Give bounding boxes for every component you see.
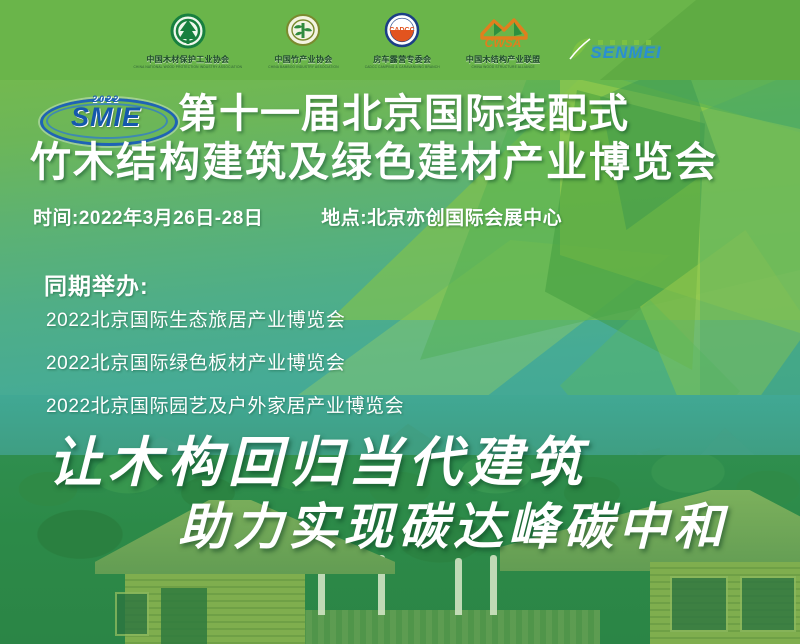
logo-senmei[interactable]: SENMEI [566, 11, 666, 69]
logo-label-cn: 中国竹产业协会 [274, 54, 332, 65]
logo-cwsa[interactable]: CWSA 中国木结构产业联盟 CHINA WOOD STRUCTURE ALLI… [466, 11, 541, 69]
cabin-window [670, 576, 728, 632]
page-title-line2: 竹木结构建筑及绿色建材产业博览会 [30, 140, 790, 184]
cabin-window [115, 592, 149, 636]
logo-label-en: CADCC CAMPING & CARAVANNING BRANCH [365, 65, 440, 69]
slogan-line1: 让木构回归当代建筑 [48, 418, 588, 497]
cadcc-badge-icon: CADCC [380, 12, 424, 52]
cabin-window [740, 576, 796, 632]
house-cwsa-icon: CWSA [474, 12, 532, 52]
slogan-line2: 助力实现碳达峰碳中和 [178, 487, 728, 559]
cabin-door [161, 588, 207, 644]
logo-label-en: CHINA BAMBOO INDUSTRY ASSOCIATION [268, 65, 339, 69]
bamboo-medallion-icon [281, 12, 325, 52]
event-venue: 地点:北京亦创国际会展中心 [321, 203, 562, 230]
association-logo-bar: 中国木材保护工业协会 CHINA NATIONAL WOOD PROTECTIO… [0, 0, 800, 80]
cabin-wall [125, 574, 305, 644]
smie-logo[interactable]: 2022 SMIE [40, 92, 172, 144]
logo-label-cn: 房车露营专委会 [373, 54, 431, 65]
logo-label-en: CHINA WOOD STRUCTURE ALLIANCE [471, 65, 534, 69]
logo-label-cn: 中国木材保护工业协会 [146, 54, 229, 65]
logo-label-en: CHINA NATIONAL WOOD PROTECTION INDUSTRY … [134, 65, 243, 69]
concurrent-events-title: 同期举办: [44, 267, 149, 301]
svg-text:CWSA: CWSA [485, 36, 522, 50]
pine-tree-shield-icon [166, 12, 210, 52]
list-item: 2022北京国际绿色板材产业博览会 [46, 348, 646, 375]
logo-label-cn: 中国木结构产业联盟 [466, 54, 541, 65]
senmei-leaf-icon: SENMEI [566, 33, 666, 67]
page-title-line1: 第十一届北京国际装配式 [178, 93, 790, 135]
logo-china-wood-protection[interactable]: 中国木材保护工业协会 CHINA NATIONAL WOOD PROTECTIO… [134, 11, 243, 69]
concurrent-events-list: 2022北京国际生态旅居产业博览会 2022北京国际绿色板材产业博览会 2022… [46, 305, 646, 434]
list-item: 2022北京国际园艺及户外家居产业博览会 [46, 391, 646, 418]
event-date: 时间:2022年3月26日-28日 [33, 203, 263, 230]
patio-umbrella-icon [490, 555, 497, 615]
svg-text:CADCC: CADCC [390, 27, 415, 34]
exhibition-poster: 中国木材保护工业协会 CHINA NATIONAL WOOD PROTECTIO… [0, 0, 800, 644]
patio-umbrella-icon [455, 558, 462, 615]
smie-wordmark: SMIE [40, 102, 172, 133]
event-meta: 时间:2022年3月26日-28日 地点:北京亦创国际会展中心 [33, 203, 773, 230]
svg-text:SENMEI: SENMEI [591, 43, 662, 62]
list-item: 2022北京国际生态旅居产业博览会 [46, 305, 646, 332]
logo-cadcc[interactable]: CADCC 房车露营专委会 CADCC CAMPING & CARAVANNIN… [365, 11, 440, 69]
logo-china-bamboo[interactable]: 中国竹产业协会 CHINA BAMBOO INDUSTRY ASSOCIATIO… [268, 11, 339, 69]
